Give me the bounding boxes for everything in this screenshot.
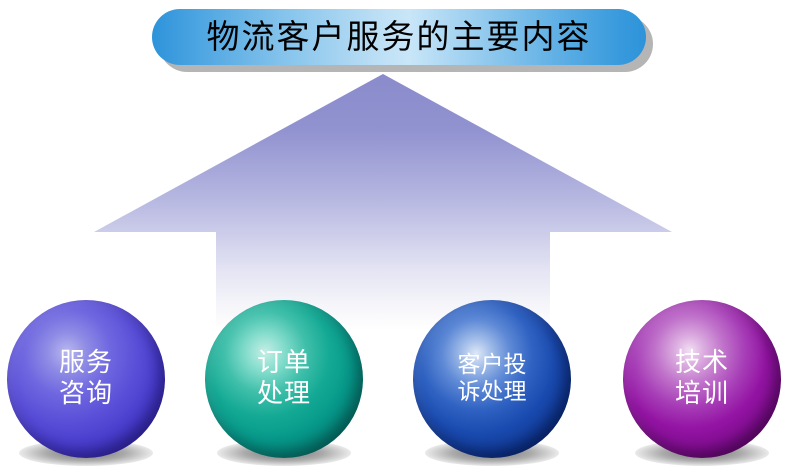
sphere-label: 技术 培训 [675,348,729,409]
sphere-order-processing[interactable]: 订单 处理 [205,300,363,458]
sphere-technical-training[interactable]: 技术 培训 [623,300,781,458]
sphere-customer-complaint-handling[interactable]: 客户投 诉处理 [413,300,571,458]
sphere-service-consultation[interactable]: 服务 咨询 [7,300,165,458]
title-banner: 物流客户服务的主要内容 [152,9,646,65]
page-title: 物流客户服务的主要内容 [207,20,592,55]
sphere-label: 订单 处理 [257,348,311,409]
title-banner-body: 物流客户服务的主要内容 [152,9,646,65]
sphere-body: 客户投 诉处理 [413,300,571,458]
slide-canvas: 物流客户服务的主要内容 服务 咨询 [0,0,788,475]
sphere-label: 客户投 诉处理 [458,352,527,406]
sphere-body: 订单 处理 [205,300,363,458]
sphere-body: 服务 咨询 [7,300,165,458]
sphere-label: 服务 咨询 [59,348,113,409]
up-arrow-icon [88,72,678,332]
sphere-body: 技术 培训 [623,300,781,458]
